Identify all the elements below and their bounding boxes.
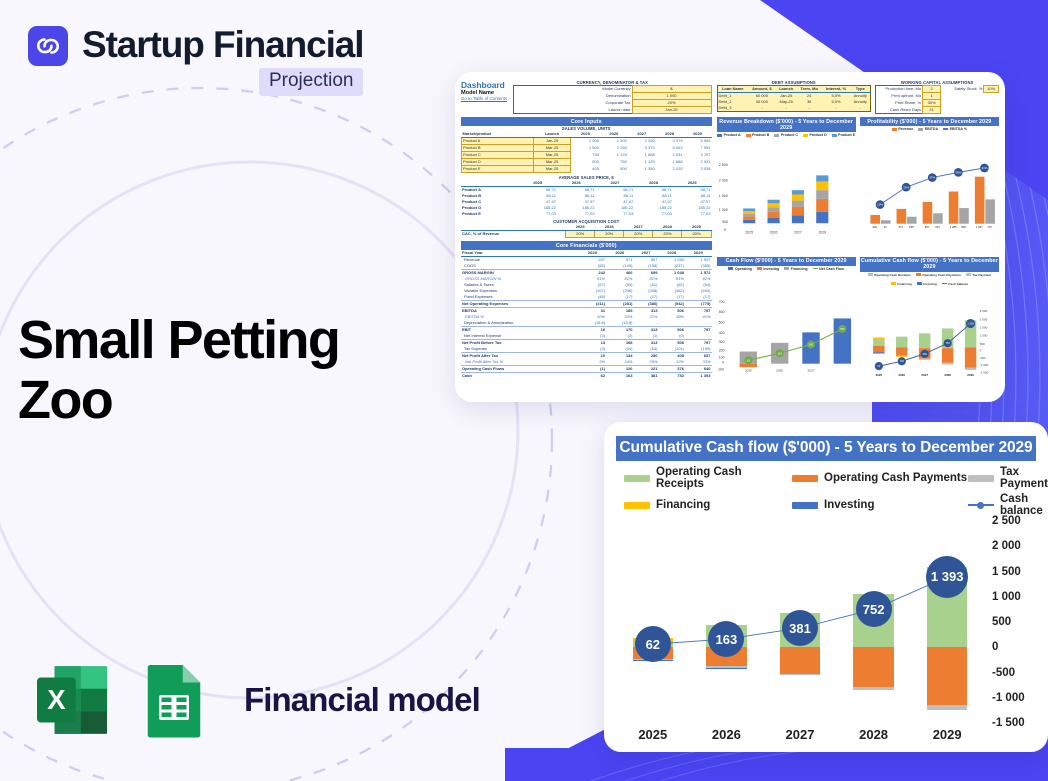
svg-text:62: 62 [746,358,750,362]
x-tick-label: 2027 [763,727,837,742]
row-label: Operating Cash Flows [461,366,579,373]
mini-cashflow-chart: 700600500400 3002001000-100 [717,272,856,395]
svg-text:700: 700 [718,299,724,303]
mini-chart-title-cumulative: Cumulative Cash flow ($'000) - 5 Years t… [860,257,999,272]
svg-text:2 000: 2 000 [718,178,727,182]
svg-text:500: 500 [718,320,724,324]
chart-y-axis: 2 5002 0001 5001 0005000-500-1 000-1 500 [984,521,1036,723]
legend-label: Financing [656,499,710,511]
table-row: Prmt Share, %30% [876,100,941,107]
svg-text:313: 313 [935,225,940,229]
avg-price-table: 2025 2026 2027 2028 2029 Product A58,715… [461,180,712,217]
table-row: Cash Resrv Days21 [876,107,941,114]
mini-chart-title-profitability: Profitability ($'000) - 5 Years to Decem… [860,117,999,126]
row-label: Net Operating Expenses [461,301,579,308]
microsoft-excel-icon: X [32,660,112,740]
svg-text:1 393: 1 393 [967,321,974,325]
mini-chart-title-revenue: Revenue Breakdown ($'000) - 5 Years to D… [717,117,856,132]
svg-text:2 500: 2 500 [718,163,727,167]
mini-chart-legend-revenue: Product A Product B Product C Product D … [717,133,856,137]
table-row: Product AJan-251 0001 5002 2503 3755 062 [462,138,712,145]
brand-logo [28,26,68,66]
legend-swatch-green [624,475,650,482]
svg-text:857: 857 [924,225,929,229]
row-value: 62 [579,373,606,380]
svg-text:185: 185 [909,225,914,229]
legend-label: Investing [824,499,874,511]
svg-text:1 500: 1 500 [979,325,987,329]
brand-title: Startup Financial [82,26,363,64]
y-tick-label: -500 [992,667,1015,679]
y-tick-label: 0 [992,641,998,653]
svg-text:0: 0 [979,348,981,352]
svg-text:400: 400 [718,331,724,335]
svg-text:31: 31 [883,225,887,229]
legend-item-cash-balance: Cash balance [968,493,1048,517]
svg-text:2 000: 2 000 [979,317,987,321]
svg-text:37%: 37% [929,176,935,180]
svg-text:571: 571 [898,225,903,229]
legend-item-tax-payment: Tax Payment [968,466,1048,490]
data-point-bubble: 1 393 [926,556,968,598]
legend-label: Cash balance [1000,493,1048,517]
table-row: Product E77,0377,0377,0377,0377,03 [461,211,712,217]
legend-swatch-line [968,502,994,509]
svg-text:500: 500 [722,220,728,224]
mini-chart-legend-profitability: Revenue EBITDA EBITDA % [860,127,999,131]
svg-text:300: 300 [718,339,724,343]
svg-text:X: X [47,684,66,715]
working-capital-table: Production time, Mo2 Prmt upfront, Mo1 P… [875,85,941,114]
mini-chart-legend-cashflow: Operating Investing Financing Net Cash F… [717,267,856,271]
table-row: Model Currency$ [514,86,711,93]
svg-text:2027: 2027 [921,372,928,376]
svg-text:1 000: 1 000 [718,208,727,212]
toc-link[interactable]: Go to Table of Contents [461,96,507,101]
x-tick-label: 2029 [910,727,984,742]
legend-item-financing: Financing [624,493,792,517]
svg-text:0: 0 [722,360,724,364]
svg-text:1 285: 1 285 [949,225,956,229]
svg-text:2025: 2025 [745,231,753,235]
data-point-bubble: 752 [856,591,892,627]
chart-title: Cumulative Cash flow ($'000) - 5 Years t… [616,436,1036,461]
dashboard-title: Dashboard [461,80,507,90]
y-tick-label: 2 000 [992,540,1021,552]
row-value: 640 [685,366,712,373]
y-tick-label: 2 500 [992,515,1021,527]
table-row: Product DMar-255007501 1251 6882 531 [462,159,712,166]
svg-text:2028: 2028 [818,231,826,235]
brand-header: Startup Financial Projection [28,26,363,96]
legend-item-operating-receipts: Operating Cash Receipts [624,466,792,490]
link-loop-icon [35,33,61,59]
mini-chart-legend-cumulative: Operating Cash Receipts Operating Cash P… [860,273,999,286]
svg-text:32%: 32% [903,185,909,189]
chart-x-axis: 20252026202720282029 [616,727,1036,742]
svg-text:39%: 39% [955,170,961,174]
svg-text:163: 163 [777,351,782,355]
svg-text:2026: 2026 [898,372,905,376]
legend-item-investing: Investing [792,493,968,517]
x-tick-label: 2028 [837,727,911,742]
data-point-bubble: 62 [635,626,671,662]
currency-table: Model Currency$ Denomination1 000 Corpor… [513,85,711,114]
row-value: 221 [634,366,659,373]
svg-text:200: 200 [718,348,724,352]
brand-subtitle: Projection [259,68,364,96]
svg-text:600: 600 [718,310,724,314]
table-row: Corporate Tax20% [514,100,711,107]
row-value: 1 393 [685,373,712,380]
svg-text:2028: 2028 [944,372,951,376]
table-row: Product EMar-254009001 3502 0253 038 [462,166,712,173]
legend-label: Operating Cash Receipts [656,466,792,490]
svg-text:500: 500 [979,341,984,345]
table-row: Safety Stock, % 10% [943,86,998,93]
google-sheets-icon [134,660,214,740]
format-label: Financial model [244,681,480,719]
svg-text:0: 0 [723,228,725,232]
table-row: Launch dateJan-25 [514,107,711,114]
y-tick-label: 1 500 [992,566,1021,578]
legend-label: Tax Payment [1000,466,1048,490]
svg-text:1 000: 1 000 [979,333,987,337]
svg-text:10%: 10% [877,203,883,207]
row-value: (386) [634,301,659,308]
y-tick-label: -1 000 [992,692,1025,704]
svg-text:-1 500: -1 500 [979,370,988,374]
svg-text:2 500: 2 500 [979,309,987,313]
svg-text:2026: 2026 [769,231,777,235]
table-row: Debt_3----- [717,105,871,112]
legend-label: Operating Cash Payments [824,472,967,484]
svg-text:-500: -500 [979,355,985,359]
legend-swatch-orange [792,475,818,482]
table-row: Production time, Mo2 [876,86,941,93]
svg-text:100: 100 [718,355,724,359]
table-row: Operating Cash Flows(1)126221376640 [461,366,712,373]
mini-cumulative-chart: 2 5002 0001 5001 000 5000-500-1 000-1 50… [860,287,999,395]
mini-profitability-chart: 10%32%37% 39%41% 29231 571185 857313 1 2… [860,132,999,255]
svg-text:2029: 2029 [967,372,974,376]
core-inputs-band: Core Inputs [461,117,712,126]
row-value: (542) [659,301,685,308]
chart-bars-and-line: 621633817521 393 [616,521,984,723]
chart-legend: Operating Cash Receipts Operating Cash P… [616,461,1036,517]
table-row: Prmt upfront, Mo1 [876,93,941,100]
page-title: Small Petting Zoo [18,310,438,431]
legend-swatch-blue [792,502,818,509]
svg-text:506: 506 [961,225,966,229]
x-tick-label: 2026 [690,727,764,742]
svg-text:797: 797 [987,225,992,229]
svg-text:41%: 41% [981,166,987,170]
row-value: 381 [634,373,659,380]
cumulative-cashflow-chart-card: Cumulative Cash flow ($'000) - 5 Years t… [604,422,1048,752]
row-value: (211) [579,301,606,308]
svg-text:-1 000: -1 000 [979,363,988,367]
core-financials-band: Core Financials ($'000) [461,241,712,250]
row-value: (1) [579,366,606,373]
table-row: Net Operating Expenses(211)(281)(386)(54… [461,301,712,308]
core-financials-table: Fiscal Year 2025 2026 2027 2028 2029 Rev… [461,250,712,379]
data-point-bubble: 381 [782,610,818,646]
table-row: Product CMar-257501 1251 6882 5313 797 [462,152,712,159]
svg-text:2027: 2027 [807,368,814,372]
y-tick-label: -1 500 [992,717,1025,729]
table-row: Denomination1 000 [514,93,711,100]
chart-plot-area: 621633817521 393 2 5002 0001 5001 000500… [616,521,1036,723]
svg-text:2025: 2025 [875,372,882,376]
svg-text:381: 381 [808,342,813,346]
svg-text:1 500: 1 500 [718,194,727,198]
table-row: Cash621633817521 393 [461,373,712,380]
svg-text:381: 381 [922,351,927,355]
svg-text:752: 752 [840,326,845,330]
sales-volume-table: Market/product Launch 2025 2026 2027 202… [461,131,712,173]
svg-text:163: 163 [899,359,904,363]
cac-table: 2025 2026 2027 2028 2029 CAC, % of Reven… [461,224,712,238]
legend-swatch-yellow [624,502,650,509]
row-value: (775) [685,301,712,308]
mini-chart-title-cashflow: Cash Flow ($'000) - 5 Years to December … [717,257,856,266]
legend-swatch-gray [968,475,994,482]
x-tick-label: 2025 [616,727,690,742]
svg-text:1 927: 1 927 [976,225,983,229]
debt-table: Loan Name Amount, $ Launch Term, Mo Inte… [717,85,872,112]
svg-text:2027: 2027 [794,231,802,235]
safety-stock-table: Safety Stock, % 10% [943,85,999,93]
y-tick-label: 1 000 [992,591,1021,603]
row-label: Cash [461,373,579,380]
svg-text:752: 752 [945,341,950,345]
dashboard-screenshot-card: Dashboard Model Name Go to Table of Cont… [455,72,1005,402]
row-value: 126 [606,366,633,373]
row-value: 163 [606,373,633,380]
y-tick-label: 500 [992,616,1011,628]
svg-text:2025: 2025 [744,368,751,372]
legend-item-operating-payments: Operating Cash Payments [792,466,968,490]
row-value: (281) [606,301,633,308]
format-row: X Financial model [32,660,480,740]
svg-text:292: 292 [872,225,877,229]
svg-text:-100: -100 [717,367,724,371]
table-row: CAC, % of Revenue 20% 20% 20% 20% 20% [461,231,711,238]
row-value: 376 [659,366,685,373]
mini-revenue-chart: 2 5002 0001 500 1 0005000 20252026202720 [717,138,856,255]
svg-text:2026: 2026 [776,368,783,372]
table-row: Product BMar-251 5002 2503 3755 0637 594 [462,145,712,152]
row-value: 752 [659,373,685,380]
